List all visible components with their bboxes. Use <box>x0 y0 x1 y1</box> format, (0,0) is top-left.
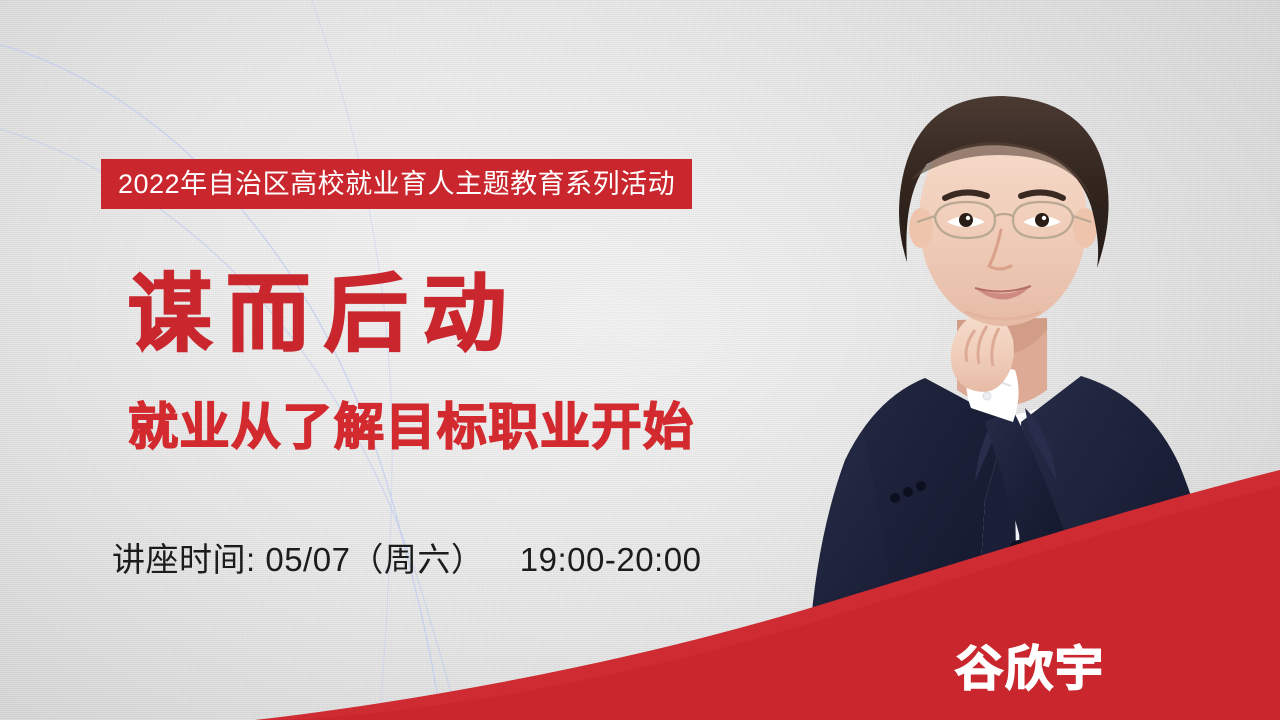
page-subtitle: 就业从了解目标职业开始 <box>128 402 695 452</box>
page-title: 谋而后动 <box>128 272 520 356</box>
schedule-date: 05/07（周六） <box>265 541 484 578</box>
poster-canvas: 2022年自治区高校就业育人主题教育系列活动 谋而后动 就业从了解目标职业开始 … <box>0 0 1280 720</box>
schedule-time: 19:00-20:00 <box>520 541 702 578</box>
speaker-name: 谷欣宇 <box>955 646 1105 694</box>
schedule-label: 讲座时间: <box>112 541 256 578</box>
event-banner-text: 2022年自治区高校就业育人主题教育系列活动 <box>118 171 675 198</box>
event-banner: 2022年自治区高校就业育人主题教育系列活动 <box>101 159 692 209</box>
schedule-line: 讲座时间: 05/07（周六） 19:00-20:00 <box>112 543 701 576</box>
